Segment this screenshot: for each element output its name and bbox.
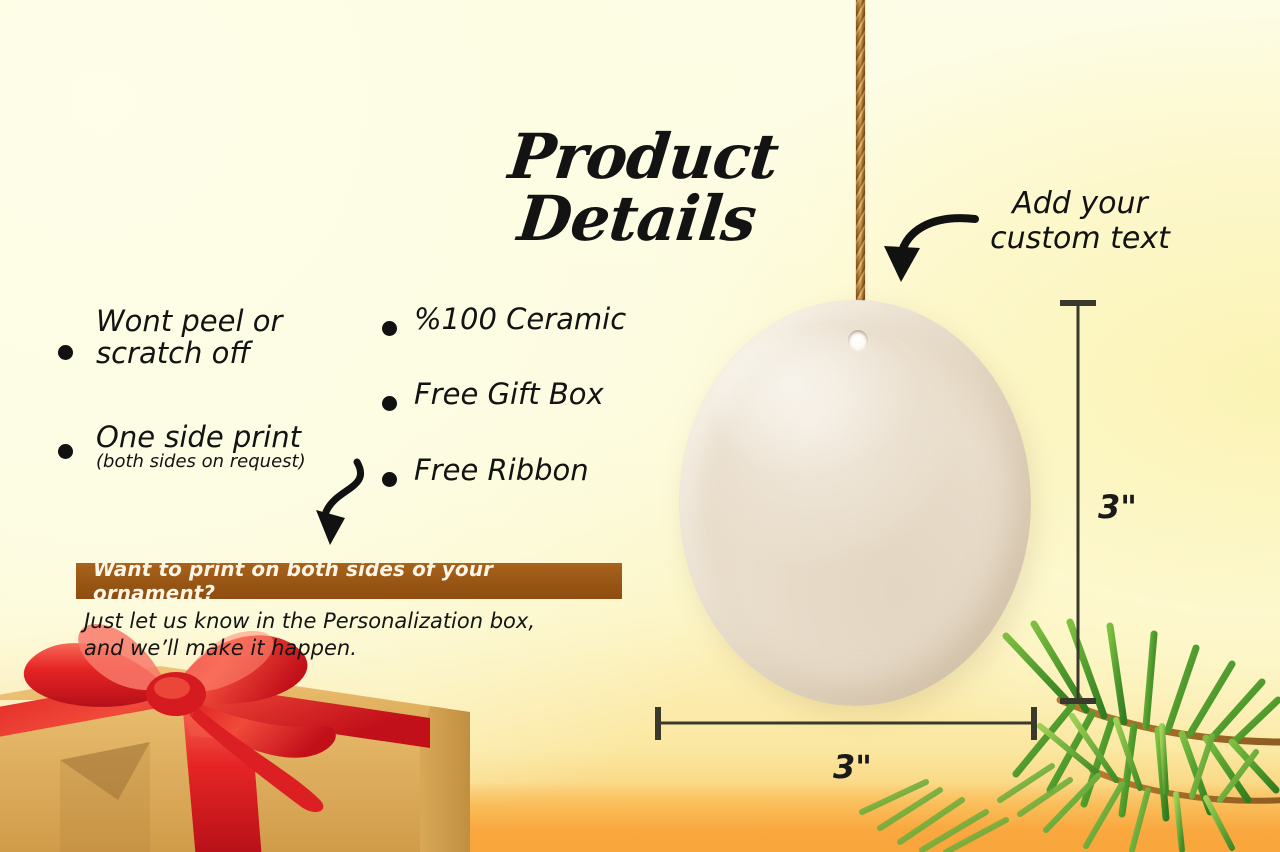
callout-headline-text: Want to print on both sides of your orna…	[93, 557, 622, 605]
callout-body-line-2: and we’ll make it happen.	[84, 636, 357, 660]
ornament-cord	[856, 0, 865, 344]
dimension-label-width: 3"	[833, 748, 872, 786]
ceramic-ornament-disc[interactable]	[679, 300, 1031, 706]
bullet-dot	[382, 396, 397, 411]
feature-line-1: One side print	[96, 420, 301, 454]
annotation-line-1: Add your	[1012, 186, 1148, 221]
annotation-line-2: custom text	[990, 221, 1170, 256]
feature-item-gift-box: Free Gift Box	[414, 378, 604, 410]
feature-line-1: Wont peel or	[96, 304, 282, 338]
feature-item-ceramic: %100 Ceramic	[414, 303, 626, 335]
callout-body: Just let us know in the Personalization …	[84, 608, 624, 662]
callout-headline-bar[interactable]: Want to print on both sides of your orna…	[76, 563, 622, 599]
callout-body-line-1: Just let us know in the Personalization …	[84, 609, 535, 633]
bullet-dot	[58, 444, 73, 459]
bullet-dot	[382, 321, 397, 336]
dimension-label-height: 3"	[1098, 488, 1137, 526]
product-infographic: Product Details Wont peel or scratch off…	[0, 0, 1280, 852]
feature-item-one-side-print: One side print (both sides on request)	[96, 421, 358, 473]
feature-line-2: scratch off	[96, 336, 250, 370]
background-bottom-band	[0, 782, 1280, 852]
feature-item-wont-peel: Wont peel or scratch off	[96, 305, 336, 370]
bullet-dot	[382, 472, 397, 487]
feature-sub-note: (both sides on request)	[96, 452, 358, 472]
feature-item-ribbon: Free Ribbon	[414, 454, 589, 486]
custom-text-annotation: Add your custom text	[980, 186, 1180, 257]
bullet-dot	[58, 345, 73, 360]
ornament-hole	[848, 330, 868, 351]
page-title: Product Details	[433, 126, 846, 250]
